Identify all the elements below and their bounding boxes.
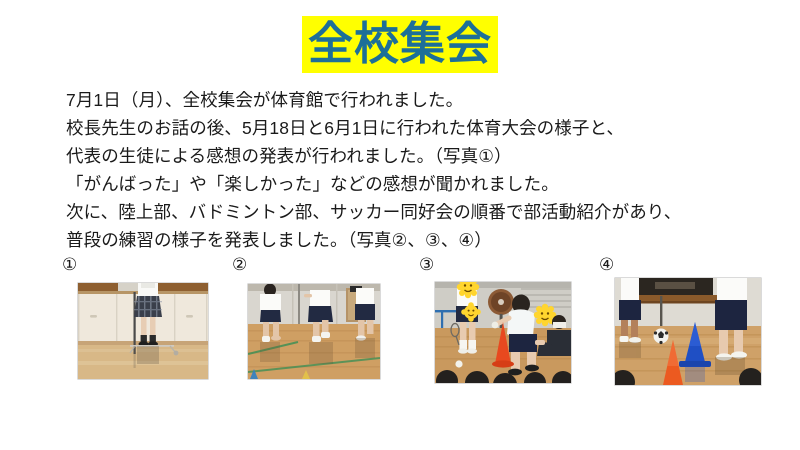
page-title: 全校集会 [302,16,498,73]
body-line-6: 普段の練習の様子を発表しました。（写真②、③、④） [66,226,766,254]
body-line-5: 次に、陸上部、バドミントン部、サッカー同好会の順番で部活動紹介があり、 [66,198,766,226]
body-line-2: 校長先生のお話の後、5月18日と6月1日に行われた体育大会の様子と、 [66,114,766,142]
photo-image-3 [435,282,571,383]
body-line-4: 「がんばった」や「楽しかった」などの感想が聞かれました。 [66,170,766,198]
article-body: 7月1日（月）、全校集会が体育館で行われました。 校長先生のお話の後、5月18日… [66,86,766,254]
photo-label-1: ① [62,255,77,275]
body-line-3: 代表の生徒による感想の発表が行われました。（写真①） [66,142,766,170]
photo-label-2: ② [232,255,247,275]
photo-label-3: ③ [419,255,434,275]
photo-image-4 [615,278,761,385]
body-line-1: 7月1日（月）、全校集会が体育館で行われました。 [66,86,766,114]
page-title-container: 全校集会 [0,16,800,73]
photo-image-1 [78,283,208,379]
photo-label-4: ④ [599,255,614,275]
photo-gallery: ① [0,255,800,395]
photo-image-2 [248,284,380,379]
